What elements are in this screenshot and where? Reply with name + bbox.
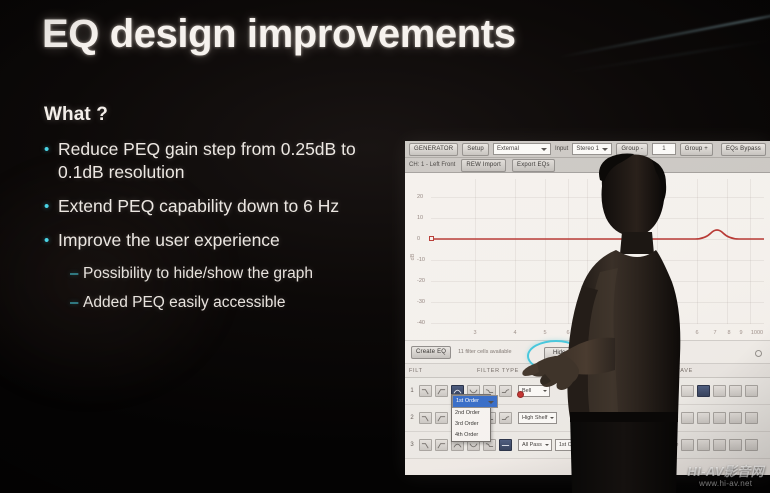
column-header-filter-type: FILTER TYPE xyxy=(477,368,519,374)
create-eq-button[interactable]: Create EQ xyxy=(411,346,451,359)
eq-response-graph[interactable]: dB 20 10 0 -10 -20 -30 -40 3 4 xyxy=(405,173,770,341)
dropdown-option[interactable]: 4th Order xyxy=(452,430,490,441)
channel-label: CH: 1 - Left Front xyxy=(409,162,455,168)
bullet-text: Extend PEQ capability down to 6 Hz xyxy=(58,195,339,218)
input-label: Input xyxy=(555,146,568,152)
column-header-octave: OCTAVE xyxy=(667,368,693,374)
octave-label: Octave xyxy=(661,415,678,421)
frequency-unit: Hz xyxy=(616,388,623,394)
octave-cell[interactable]: Octave xyxy=(661,385,758,397)
status-indicator-icon xyxy=(755,350,762,357)
frequency-unit: Hz xyxy=(616,415,623,421)
eq-response-curve xyxy=(405,173,770,341)
octave-step-icon[interactable] xyxy=(713,385,726,397)
dropdown-option[interactable]: 1st Order xyxy=(452,395,498,408)
octave-step-icon[interactable] xyxy=(681,412,694,424)
dropdown-option[interactable]: 3rd Order xyxy=(452,419,490,430)
dash-marker-icon: – xyxy=(70,292,83,313)
highpass-icon[interactable] xyxy=(435,412,448,424)
filter-type-select[interactable]: High Shelf xyxy=(518,412,557,424)
dash-marker-icon: – xyxy=(70,263,83,284)
hide-graph-button[interactable]: Hide graph xyxy=(544,347,591,360)
bullet-text: Improve the user experience xyxy=(58,229,280,252)
octave-step-icon[interactable] xyxy=(729,385,742,397)
bullet-marker-icon: • xyxy=(44,229,58,252)
app-toolbar-secondary: CH: 1 - Left Front REW Import Export EQs xyxy=(405,158,770,173)
octave-step-icon[interactable] xyxy=(729,439,742,451)
octave-step-icon[interactable] xyxy=(681,385,694,397)
filter-order-dropdown[interactable]: 1st Order 2nd Order 3rd Order 4th Order xyxy=(451,394,491,442)
highpass-icon[interactable] xyxy=(435,385,448,397)
octave-step-icon[interactable] xyxy=(713,412,726,424)
sub-bullet-text: Possibility to hide/show the graph xyxy=(83,263,313,284)
bullet-text: Reduce PEQ gain step from 0.25dB to 0.1d… xyxy=(58,138,404,184)
octave-step-icon[interactable] xyxy=(697,412,710,424)
octave-label: Octave xyxy=(661,442,678,448)
frequency-cell[interactable]: 5000 Hz xyxy=(587,412,623,424)
source-select[interactable]: External xyxy=(493,143,551,155)
table-header-row: FILT FILTER TYPE FREQUENCY OCTAVE xyxy=(405,364,770,378)
octave-label: Octave xyxy=(661,388,678,394)
frequency-cell[interactable]: 1000 Hz xyxy=(587,385,623,397)
sub-list-item: – Added PEQ easily accessible xyxy=(70,292,404,313)
frequency-unit: Hz xyxy=(616,442,623,448)
bullet-marker-icon: • xyxy=(44,138,58,161)
column-header-filt: FILT xyxy=(409,368,423,374)
octave-step-icon[interactable] xyxy=(745,412,758,424)
slide-photo: EQ design improvements What ? • Reduce P… xyxy=(0,0,770,493)
lowpass-icon[interactable] xyxy=(419,385,432,397)
octave-step-icon[interactable] xyxy=(697,385,710,397)
section-heading: What ? xyxy=(44,104,404,126)
export-eqs-button[interactable]: Export EQs xyxy=(512,159,555,172)
octave-step-icon[interactable] xyxy=(745,439,758,451)
frequency-cell[interactable]: 1000 Hz xyxy=(587,439,623,451)
input-select[interactable]: Stereo 1 xyxy=(572,143,612,155)
setup-button[interactable]: Setup xyxy=(462,143,489,156)
slide-body: What ? • Reduce PEQ gain step from 0.25d… xyxy=(44,104,404,321)
group-minus-button[interactable]: Group - xyxy=(616,143,648,156)
sub-list: – Possibility to hide/show the graph – A… xyxy=(70,263,404,313)
octave-step-icon[interactable] xyxy=(713,439,726,451)
group-plus-button[interactable]: Group + xyxy=(680,143,713,156)
highpass-icon[interactable] xyxy=(435,439,448,451)
app-toolbar: GENERATOR Setup External Input Stereo 1 … xyxy=(405,141,770,158)
rew-import-button[interactable]: REW Import xyxy=(461,159,506,172)
row-number: 1 xyxy=(405,388,419,394)
highshelf-icon[interactable] xyxy=(499,385,512,397)
octave-cell[interactable]: Octave xyxy=(661,412,758,424)
page-title: EQ design improvements xyxy=(42,12,516,57)
column-header-frequency: FREQUENCY xyxy=(587,368,628,374)
group-value-field[interactable]: 1 xyxy=(652,143,676,155)
octave-step-icon[interactable] xyxy=(745,385,758,397)
sub-bullet-text: Added PEQ easily accessible xyxy=(83,292,285,313)
list-item: • Extend PEQ capability down to 6 Hz xyxy=(44,195,404,218)
bullet-marker-icon: • xyxy=(44,195,58,218)
eq-action-strip: Create EQ 11 filter cells available Hide… xyxy=(405,341,770,364)
filter-type-select[interactable]: All Pass xyxy=(518,439,552,451)
list-item: • Improve the user experience xyxy=(44,229,404,252)
lowpass-icon[interactable] xyxy=(419,412,432,424)
row-number: 3 xyxy=(405,442,419,448)
generator-button[interactable]: GENERATOR xyxy=(409,143,458,156)
curve-handle[interactable] xyxy=(429,236,434,241)
frequency-field[interactable]: 5000 xyxy=(587,412,613,424)
filter-cells-hint: 11 filter cells available xyxy=(458,349,511,355)
octave-step-icon[interactable] xyxy=(729,412,742,424)
record-indicator-icon xyxy=(517,391,524,398)
lowpass-icon[interactable] xyxy=(419,439,432,451)
highshelf-icon[interactable] xyxy=(499,412,512,424)
dropdown-option[interactable]: 2nd Order xyxy=(452,408,490,419)
octave-step-icon[interactable] xyxy=(681,439,694,451)
allpass-icon[interactable] xyxy=(499,439,512,451)
filter-table: FILT FILTER TYPE FREQUENCY OCTAVE 1 xyxy=(405,364,770,459)
sub-list-item: – Possibility to hide/show the graph xyxy=(70,263,404,284)
list-item: • Reduce PEQ gain step from 0.25dB to 0.… xyxy=(44,138,404,184)
row-number: 2 xyxy=(405,415,419,421)
frequency-field[interactable]: 1000 xyxy=(587,439,613,451)
eqs-bypass-button[interactable]: EQs Bypass xyxy=(721,143,766,156)
octave-step-icon[interactable] xyxy=(697,439,710,451)
eq-application-screenshot: GENERATOR Setup External Input Stereo 1 … xyxy=(405,141,770,475)
octave-cell[interactable]: Octave xyxy=(661,439,758,451)
frequency-field[interactable]: 1000 xyxy=(587,385,613,397)
